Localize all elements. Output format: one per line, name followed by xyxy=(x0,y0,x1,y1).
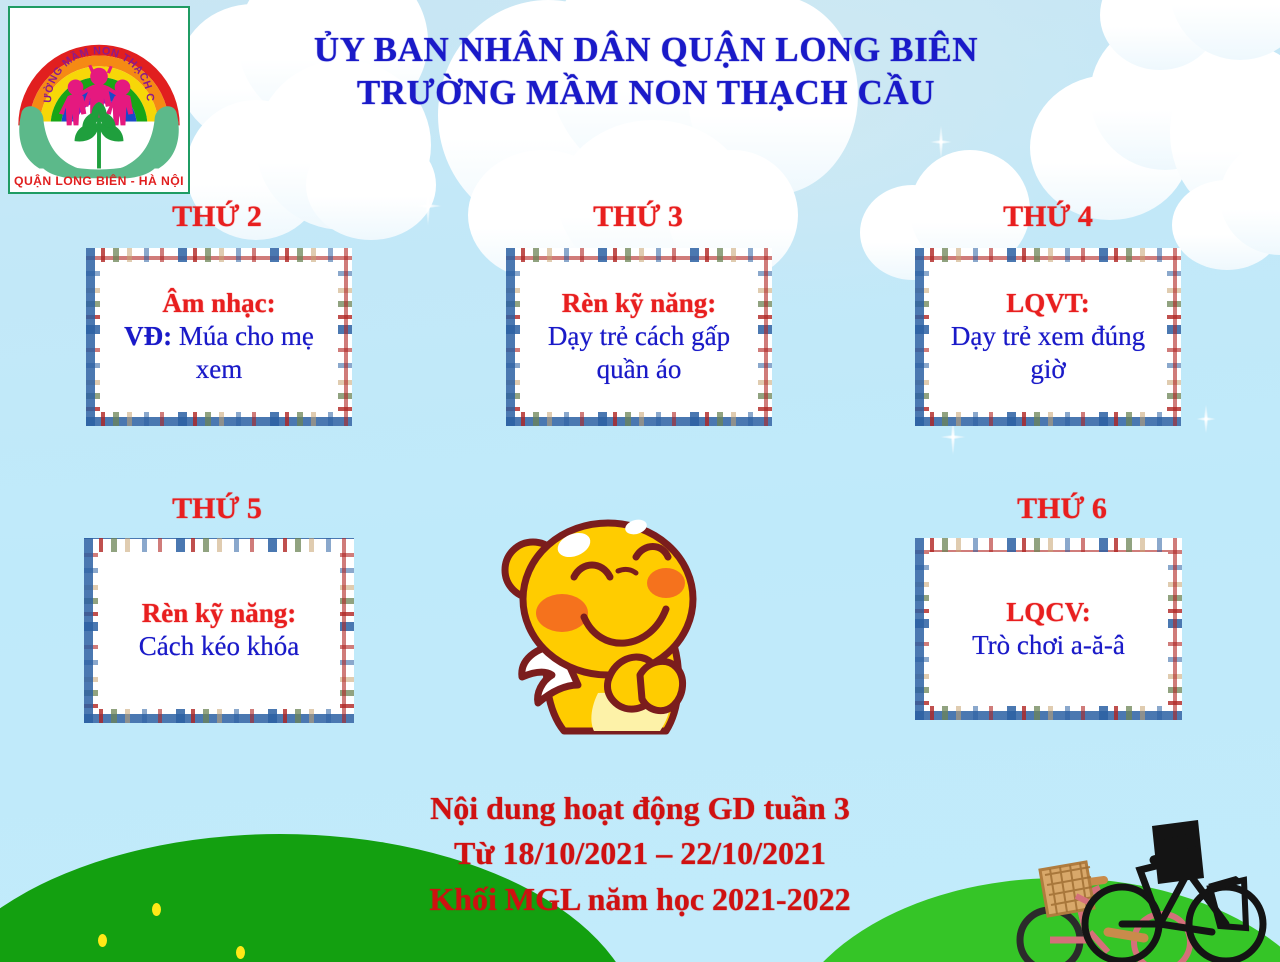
poster-footer: Nội dung hoạt động GD tuần 3 Từ 18/10/20… xyxy=(0,786,1280,922)
day-label-thu-5: THỨ 5 xyxy=(117,492,317,526)
day-card-body: Dạy trẻ cách gấp quần áo xyxy=(530,320,748,387)
poster-title: ỦY BAN NHÂN DÂN QUẬN LONG BIÊN TRƯỜNG MẦ… xyxy=(196,28,1096,115)
svg-text:QUẬN LONG BIÊN - HÀ NỘI: QUẬN LONG BIÊN - HÀ NỘI xyxy=(14,173,184,188)
day-label-thu-2: THỨ 2 xyxy=(117,200,317,234)
footer-line-2: Từ 18/10/2021 – 22/10/2021 xyxy=(0,831,1280,876)
day-card-title: Âm nhạc: xyxy=(162,287,275,320)
day-card-title: LQCV: xyxy=(1006,596,1091,629)
day-label-thu-4: THỨ 4 xyxy=(948,200,1148,234)
day-card-body: Cách kéo khóa xyxy=(139,630,299,663)
day-label-thu-3: THỨ 3 xyxy=(538,200,738,234)
day-card-body-prefix: VĐ: xyxy=(124,321,172,351)
cloud-right-small xyxy=(1172,140,1280,270)
day-card-inner: Âm nhạc: VĐ: Múa cho mẹ xem xyxy=(100,262,338,412)
day-card-body-text: Múa cho mẹ xem xyxy=(172,321,314,384)
day-card-title: Rèn kỹ năng: xyxy=(142,597,297,630)
day-card-body: Dạy trẻ xem đúng giờ xyxy=(939,320,1157,387)
flower-dot xyxy=(236,946,245,959)
day-card-title: Rèn kỹ năng: xyxy=(562,287,717,320)
day-card-body: Trò chơi a-ă-â xyxy=(972,629,1125,662)
day-card-title: LQVT: xyxy=(1006,287,1090,320)
poster-title-line2: TRƯỜNG MẦM NON THẠCH CẦU xyxy=(196,71,1096,114)
day-card-thu-4[interactable]: LQVT: Dạy trẻ xem đúng giờ xyxy=(915,248,1181,426)
day-card-thu-3[interactable]: Rèn kỹ năng: Dạy trẻ cách gấp quần áo xyxy=(506,248,772,426)
day-label-thu-6: THỨ 6 xyxy=(962,492,1162,526)
poster-canvas: TRƯỜNG MẦM NON THẠCH CẦU xyxy=(0,0,1280,962)
day-card-inner: Rèn kỹ năng: Cách kéo khóa xyxy=(98,552,340,709)
cloud-upper-right-corner xyxy=(1100,0,1280,70)
day-card-inner: Rèn kỹ năng: Dạy trẻ cách gấp quần áo xyxy=(520,262,758,412)
day-card-inner: LQCV: Trò chơi a-ă-â xyxy=(929,552,1168,706)
poster-title-line1: ỦY BAN NHÂN DÂN QUẬN LONG BIÊN xyxy=(196,28,1096,71)
day-card-thu-6[interactable]: LQCV: Trò chơi a-ă-â xyxy=(915,538,1182,720)
sparkle-star-4 xyxy=(1196,404,1216,434)
day-card-thu-5[interactable]: Rèn kỹ năng: Cách kéo khóa xyxy=(84,538,354,723)
bear-mascot-icon xyxy=(490,495,720,735)
day-card-thu-2[interactable]: Âm nhạc: VĐ: Múa cho mẹ xem xyxy=(86,248,352,426)
flower-dot xyxy=(98,934,107,947)
day-card-body: VĐ: Múa cho mẹ xem xyxy=(110,320,328,387)
day-card-inner: LQVT: Dạy trẻ xem đúng giờ xyxy=(929,262,1167,412)
footer-line-3: Khối MGL năm học 2021-2022 xyxy=(0,877,1280,922)
school-logo: TRƯỜNG MẦM NON THẠCH CẦU xyxy=(8,6,190,194)
footer-line-1: Nội dung hoạt động GD tuần 3 xyxy=(0,786,1280,831)
